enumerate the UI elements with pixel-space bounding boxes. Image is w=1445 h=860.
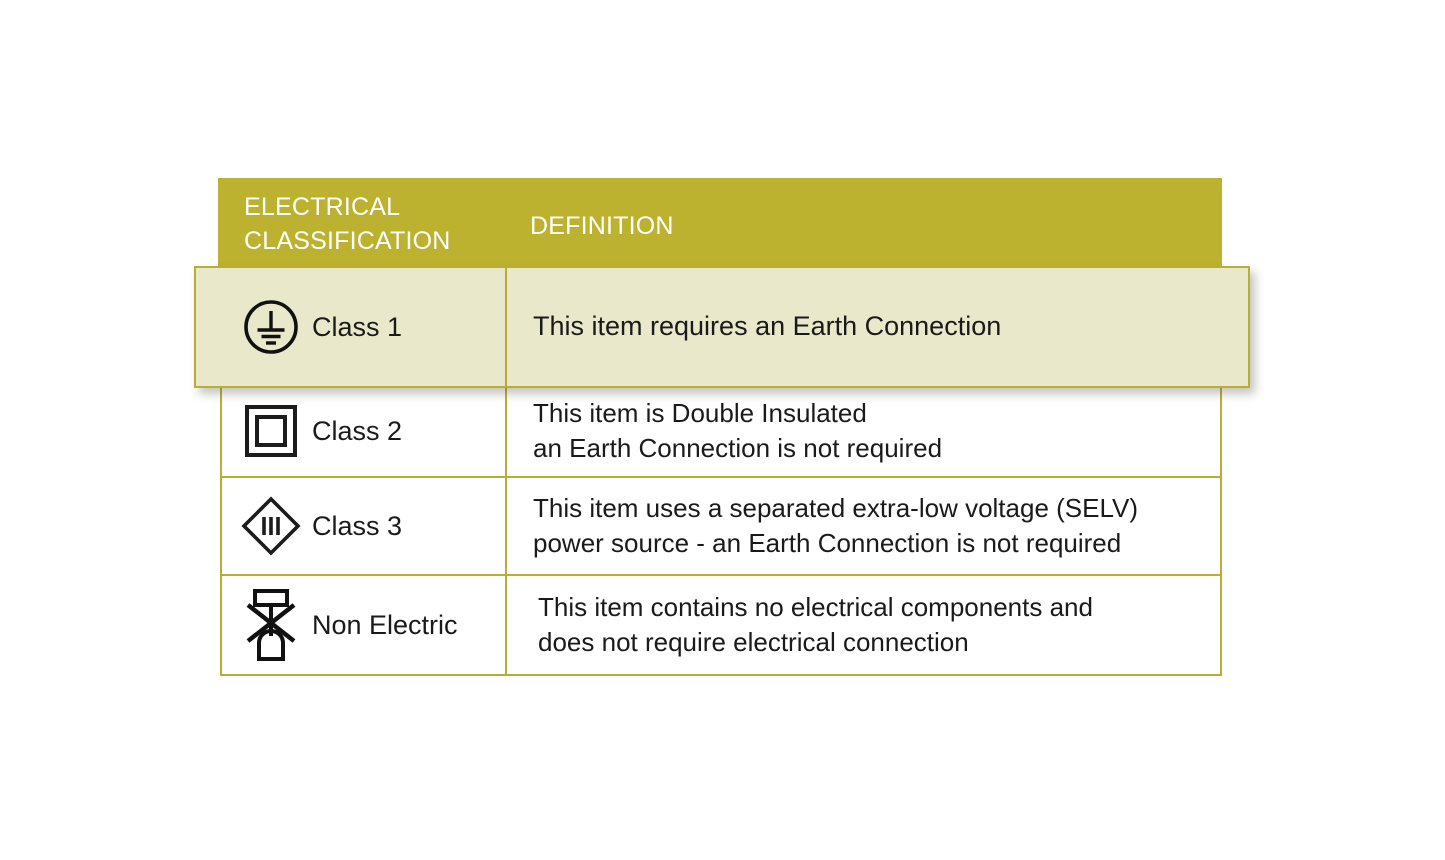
definition-text-non-electric: This item contains no electrical compone… — [533, 590, 1093, 659]
definition-text-class-3: This item uses a separated extra-low vol… — [533, 491, 1138, 560]
table-row-non-electric[interactable]: Non Electric This item contains no elect… — [220, 576, 1222, 676]
table-row-class-1[interactable]: Class 1 This item requires an Earth Conn… — [194, 266, 1250, 388]
definition-text-class-1: This item requires an Earth Connection — [533, 309, 1001, 345]
double-insulated-square-icon — [240, 402, 302, 460]
electrical-classification-table: ELECTRICAL CLASSIFICATION DEFINITION Cla… — [0, 0, 1445, 860]
table-row-class-2[interactable]: Class 2 This item is Double Insulated an… — [220, 386, 1222, 478]
table-row-class-3[interactable]: Class 3 This item uses a separated extra… — [220, 478, 1222, 576]
protective-earth-ground-icon — [240, 298, 302, 356]
definition-text-class-2: This item is Double Insulated an Earth C… — [533, 396, 942, 465]
cell-definition-class-3: This item uses a separated extra-low vol… — [507, 478, 1220, 574]
selv-diamond-three-bars-icon — [240, 495, 302, 557]
table-body: Class 1 This item requires an Earth Conn… — [220, 270, 1222, 676]
cell-classification-class-1: Class 1 — [196, 268, 507, 386]
classification-label-class-1: Class 1 — [312, 312, 402, 343]
cell-definition-class-2: This item is Double Insulated an Earth C… — [507, 386, 1220, 476]
cell-classification-class-3: Class 3 — [222, 478, 507, 574]
classification-label-class-3: Class 3 — [312, 511, 402, 542]
cell-definition-non-electric: This item contains no electrical compone… — [507, 576, 1220, 674]
cell-classification-non-electric: Non Electric — [222, 576, 507, 674]
cell-definition-class-1: This item requires an Earth Connection — [507, 268, 1248, 386]
classification-label-non-electric: Non Electric — [312, 610, 458, 641]
cell-classification-class-2: Class 2 — [222, 386, 507, 476]
header-electrical-classification: ELECTRICAL CLASSIFICATION — [244, 190, 544, 258]
non-electric-crossed-plug-icon — [240, 586, 302, 664]
header-definition: DEFINITION — [530, 212, 674, 241]
table-header: ELECTRICAL CLASSIFICATION DEFINITION — [218, 178, 1222, 270]
classification-label-class-2: Class 2 — [312, 416, 402, 447]
